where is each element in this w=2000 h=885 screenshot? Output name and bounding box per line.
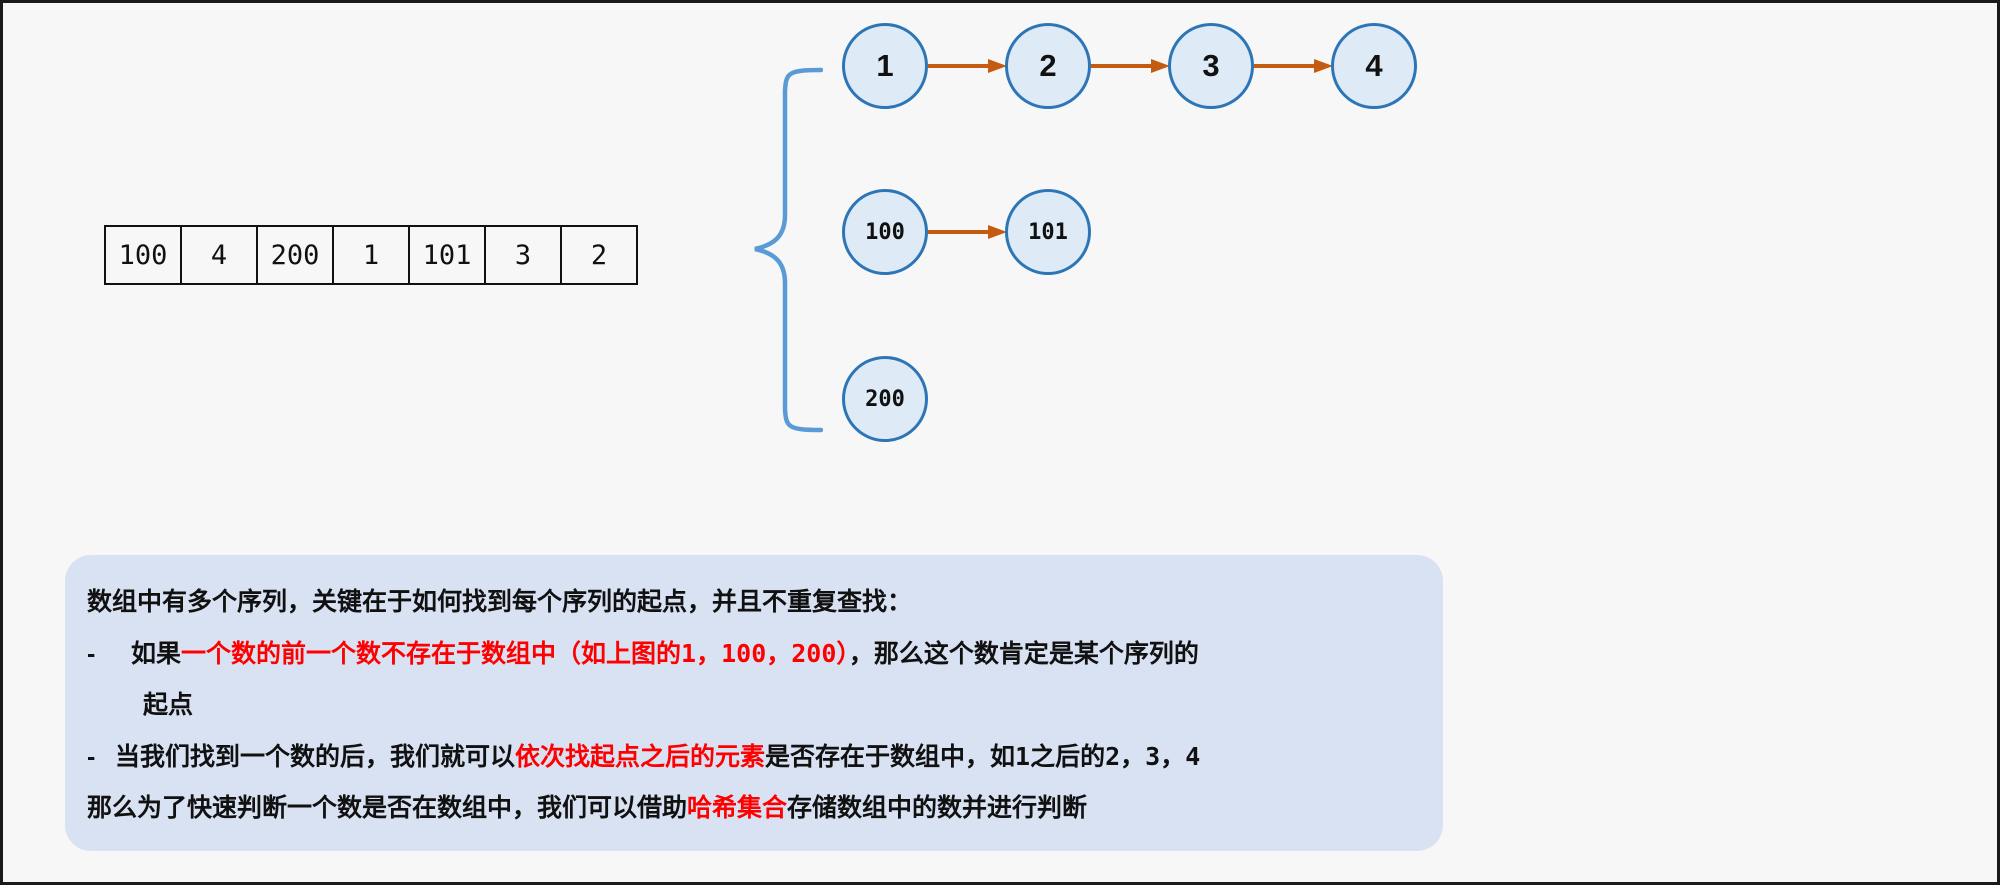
callout-line-2-red-nums: 1，100，200 — [681, 639, 836, 668]
callout-line-3-part3: 之后的 — [1030, 743, 1105, 771]
node-100: 100 — [842, 189, 928, 275]
table-row: 100 4 200 1 101 3 2 — [105, 226, 637, 284]
slide-canvas: 100 4 200 1 101 3 2 1 2 3 4 100 101 200 — [0, 0, 2000, 885]
node-200: 200 — [842, 356, 928, 442]
array-cell-0: 100 — [105, 226, 181, 284]
callout-line-1: 数组中有多个序列，关键在于如何找到每个序列的起点，并且不重复查找： — [87, 577, 1413, 628]
array-cell-2: 200 — [257, 226, 333, 284]
node-3: 3 — [1168, 23, 1254, 109]
node-4: 4 — [1331, 23, 1417, 109]
arrow-1-to-2-icon — [928, 56, 1007, 76]
callout-line-2-paren-close: ） — [836, 640, 849, 668]
callout-line-4-red1: 哈希集合 — [687, 794, 787, 822]
grouping-brace-icon — [693, 23, 823, 443]
callout-line-3-part1: 当我们找到一个数的后，我们就可以 — [115, 743, 515, 771]
callout-line-3-red1: 依次找起点之后的元素 — [515, 743, 765, 771]
callout-line-2-part2: ，那么这个数肯定是某个序列的 — [849, 640, 1199, 668]
node-101: 101 — [1005, 189, 1091, 275]
callout-line-2-red1: 一个数的前一个数不存在于数组中 — [181, 640, 556, 668]
arrow-100-to-101-icon — [928, 222, 1007, 242]
arrow-2-to-3-icon — [1091, 56, 1170, 76]
callout-line-3-part2: 是否存在于数组中，如 — [765, 743, 1015, 771]
array-cell-1: 4 — [181, 226, 257, 284]
array-cell-6: 2 — [561, 226, 637, 284]
callout-line-2-wrap: 起点 — [87, 680, 1413, 731]
node-2: 2 — [1005, 23, 1091, 109]
callout-line-2-part1: 如果 — [131, 640, 181, 668]
node-1: 1 — [842, 23, 928, 109]
callout-line-2-paren-open: （如上图的 — [556, 640, 681, 668]
callout-line-3: -当我们找到一个数的后，我们就可以依次找起点之后的元素是否存在于数组中，如1之后… — [87, 731, 1413, 783]
explanation-callout: 数组中有多个序列，关键在于如何找到每个序列的起点，并且不重复查找： -如果一个数… — [65, 555, 1443, 851]
callout-line-2-wrap-text: 起点 — [143, 691, 193, 719]
bullet-dash-1: - — [87, 629, 131, 680]
arrow-3-to-4-icon — [1254, 56, 1333, 76]
array-cell-4: 101 — [409, 226, 485, 284]
callout-line-1-text: 数组中有多个序列，关键在于如何找到每个序列的起点，并且不重复查找： — [87, 588, 912, 616]
callout-line-3-num1: 1 — [1015, 742, 1030, 771]
callout-line-4-part1: 那么为了快速判断一个数是否在数组中，我们可以借助 — [87, 794, 687, 822]
array-cell-3: 1 — [333, 226, 409, 284]
array-cell-5: 3 — [485, 226, 561, 284]
input-array-table: 100 4 200 1 101 3 2 — [104, 225, 638, 285]
callout-line-4-part2: 存储数组中的数并进行判断 — [787, 794, 1087, 822]
callout-line-4: 那么为了快速判断一个数是否在数组中，我们可以借助哈希集合存储数组中的数并进行判断 — [87, 783, 1413, 834]
callout-line-3-num2: 2，3，4 — [1105, 742, 1200, 771]
callout-line-2: -如果一个数的前一个数不存在于数组中（如上图的1，100，200），那么这个数肯… — [87, 628, 1413, 680]
bullet-dash-2: - — [87, 732, 115, 783]
